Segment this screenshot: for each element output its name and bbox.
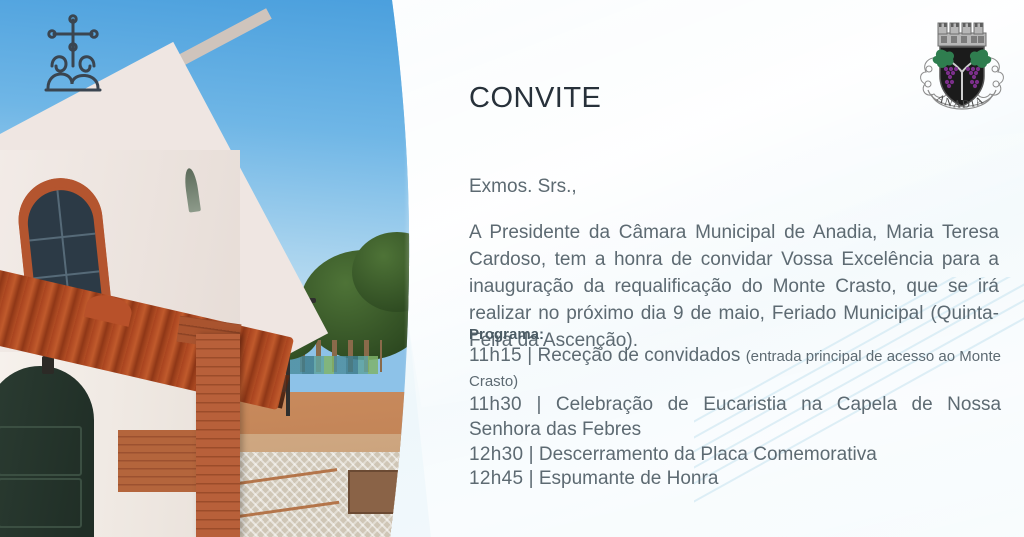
program-item-separator: | [529, 444, 534, 465]
program-item: 11h30 | Celebração de Eucaristia na Cape… [469, 393, 1001, 442]
program-item-separator: | [536, 394, 541, 415]
wall-lantern [42, 356, 54, 374]
chapel-photo [0, 0, 430, 537]
utility-box [348, 470, 400, 514]
program-item-title: Receção de convidados [538, 345, 741, 366]
brick-column [196, 334, 240, 537]
program-item: 12h30 | Descerramento da Placa Comemorat… [469, 443, 1001, 468]
program-item-title: Celebração de Eucaristia na Capela de No… [469, 394, 1001, 440]
salutation: Exmos. Srs., [469, 176, 999, 198]
program-item-time: 12h30 [469, 444, 523, 465]
program-section: Programa: 11h15 | Receção de convidados … [469, 326, 1001, 492]
program-item-separator: | [527, 345, 532, 366]
program-item: 11h15 | Receção de convidados (entrada p… [469, 344, 1001, 393]
program-item-separator: | [529, 468, 534, 489]
anadia-coat-of-arms-icon: ANADIA [916, 14, 1008, 118]
page-title: CONVITE [469, 82, 601, 115]
program-item-time: 11h15 [469, 345, 522, 366]
invitation-card: ANADIA CONVITE Exmos. Srs., A Presidente… [0, 0, 1024, 537]
program-item: 12h45 | Espumante de Honra [469, 467, 1001, 492]
chapel-door [0, 366, 94, 537]
program-item-time: 11h30 [469, 394, 522, 415]
program-item-title: Espumante de Honra [539, 468, 719, 489]
program-heading: Programa: [469, 326, 1001, 343]
program-item-time: 12h45 [469, 468, 523, 489]
program-item-title: Descerramento da Placa Comemorativa [539, 444, 877, 465]
wrought-iron-cross-icon [38, 14, 108, 106]
